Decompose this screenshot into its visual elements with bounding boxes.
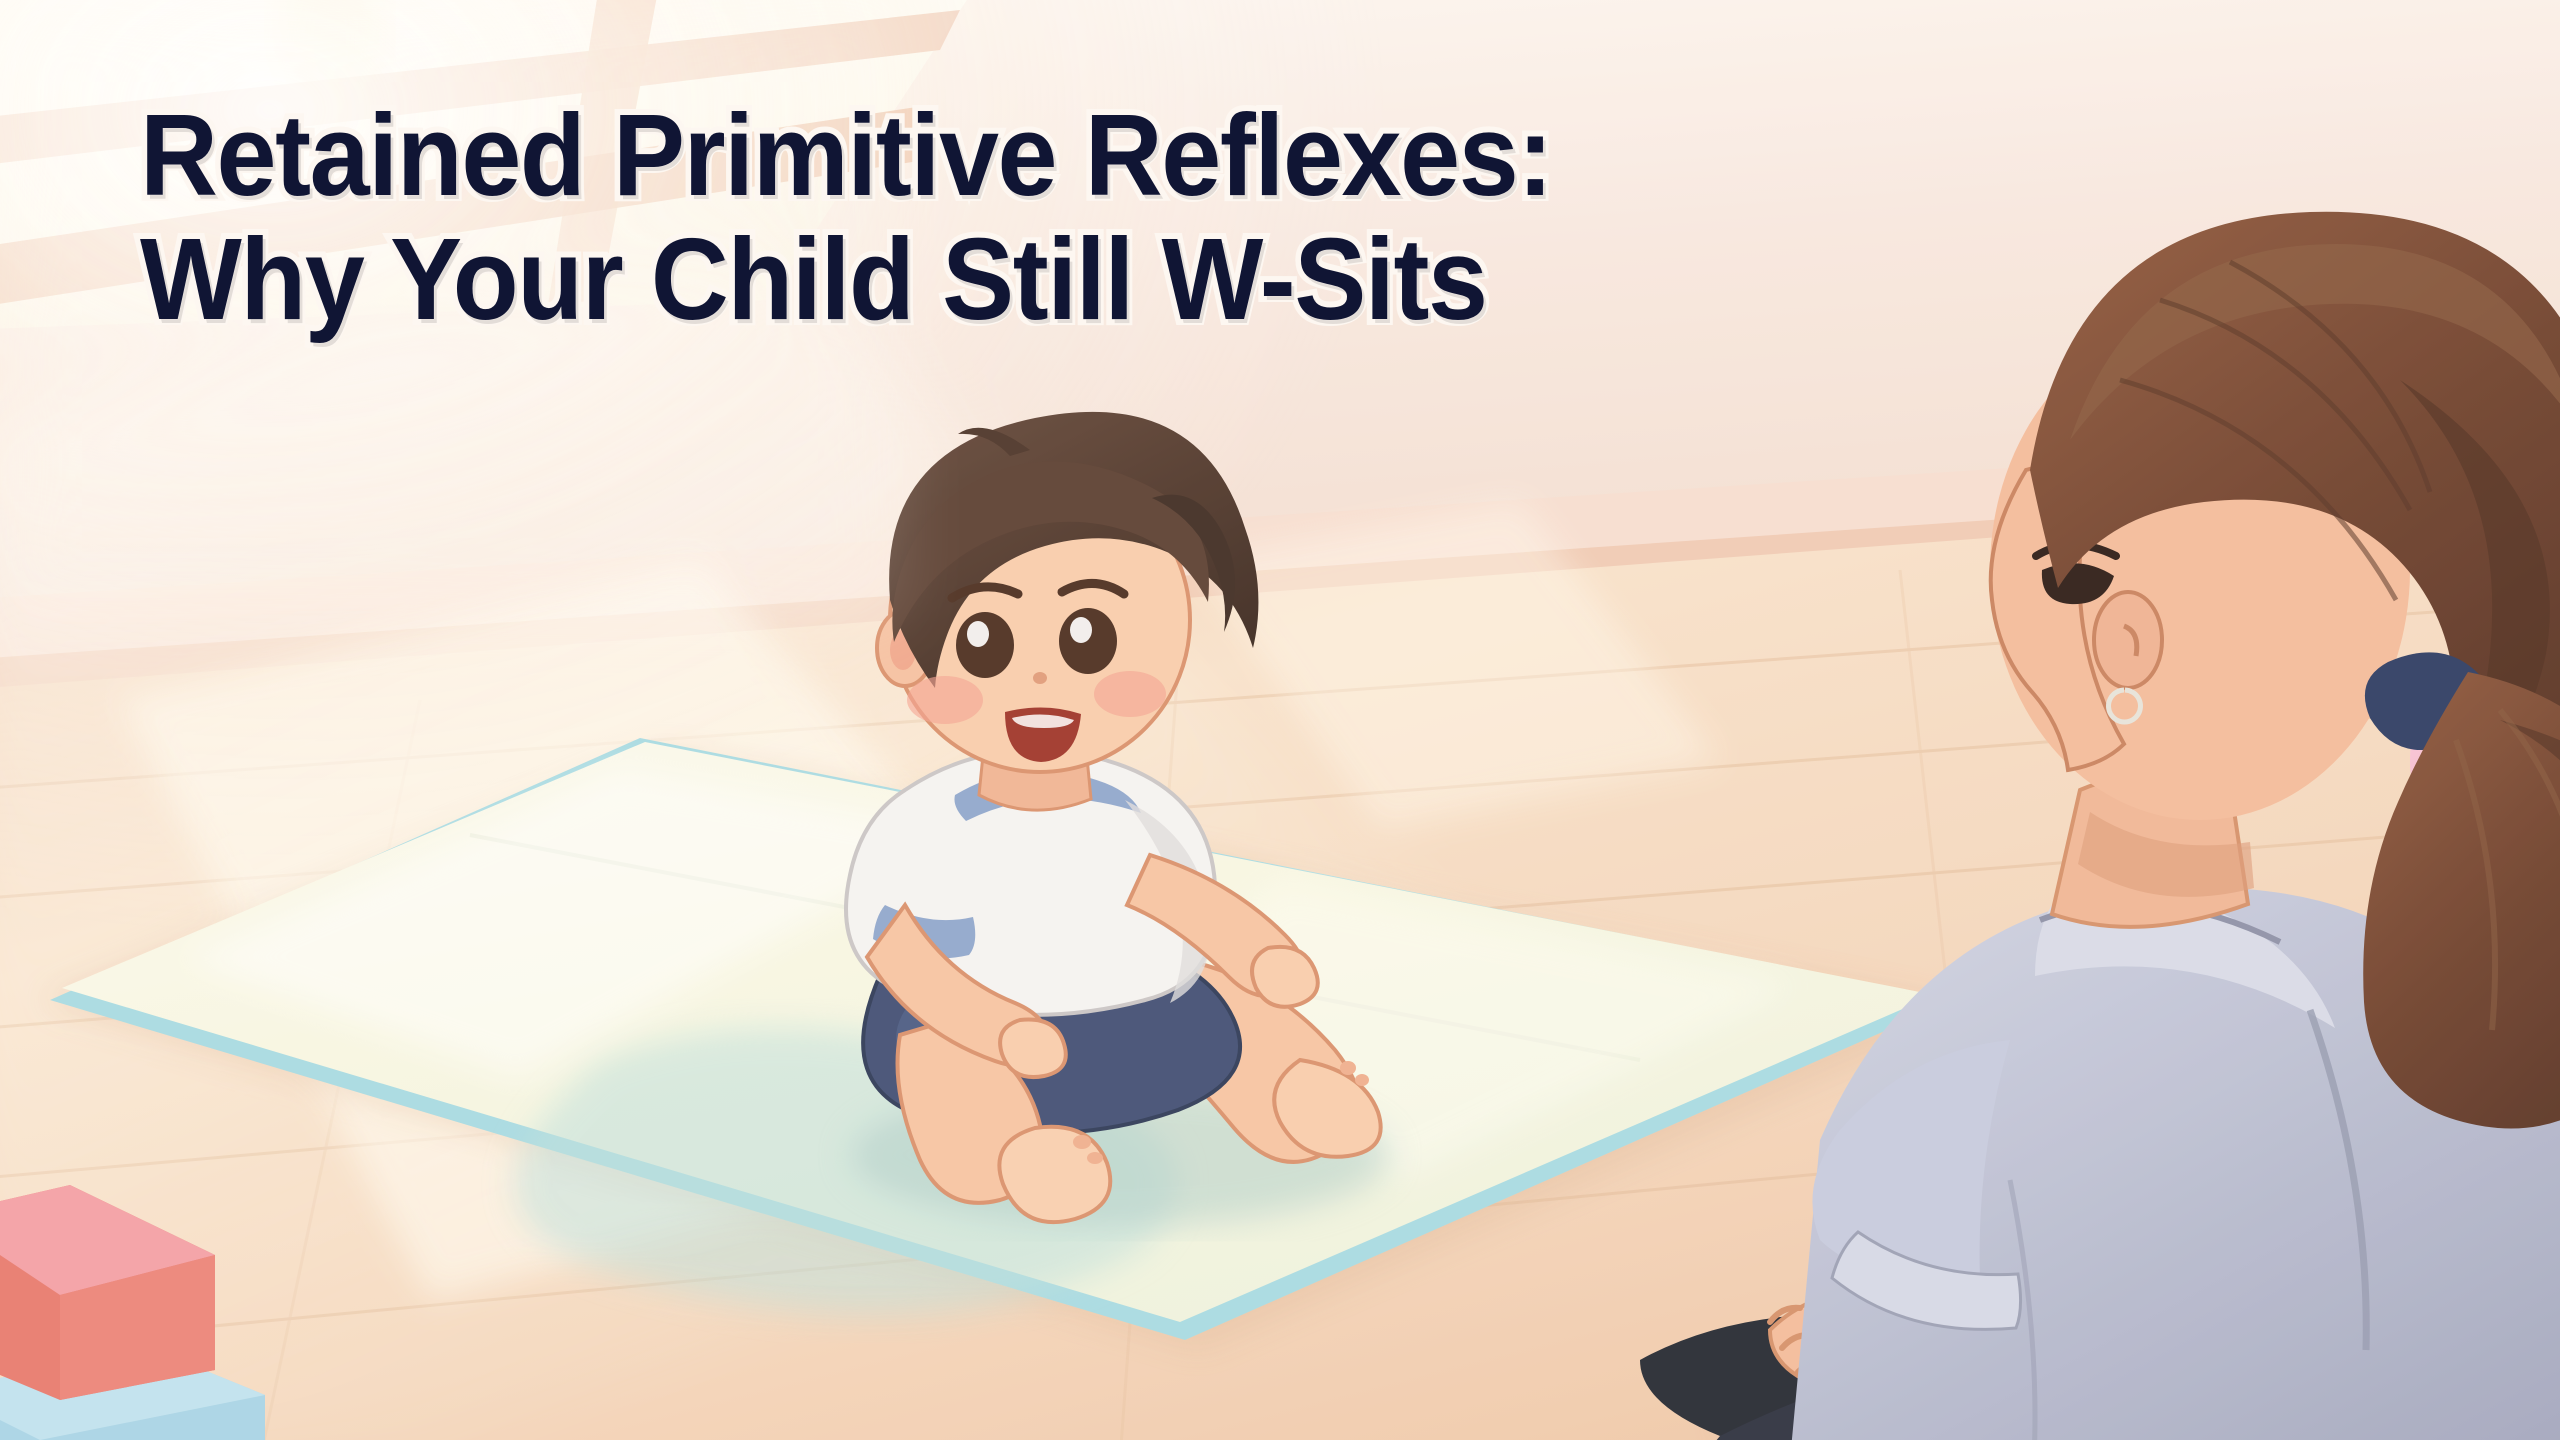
scene-illustration <box>0 0 2560 1440</box>
illustration-canvas: Retained Primitive Reflexes: Why Your Ch… <box>0 0 2560 1440</box>
